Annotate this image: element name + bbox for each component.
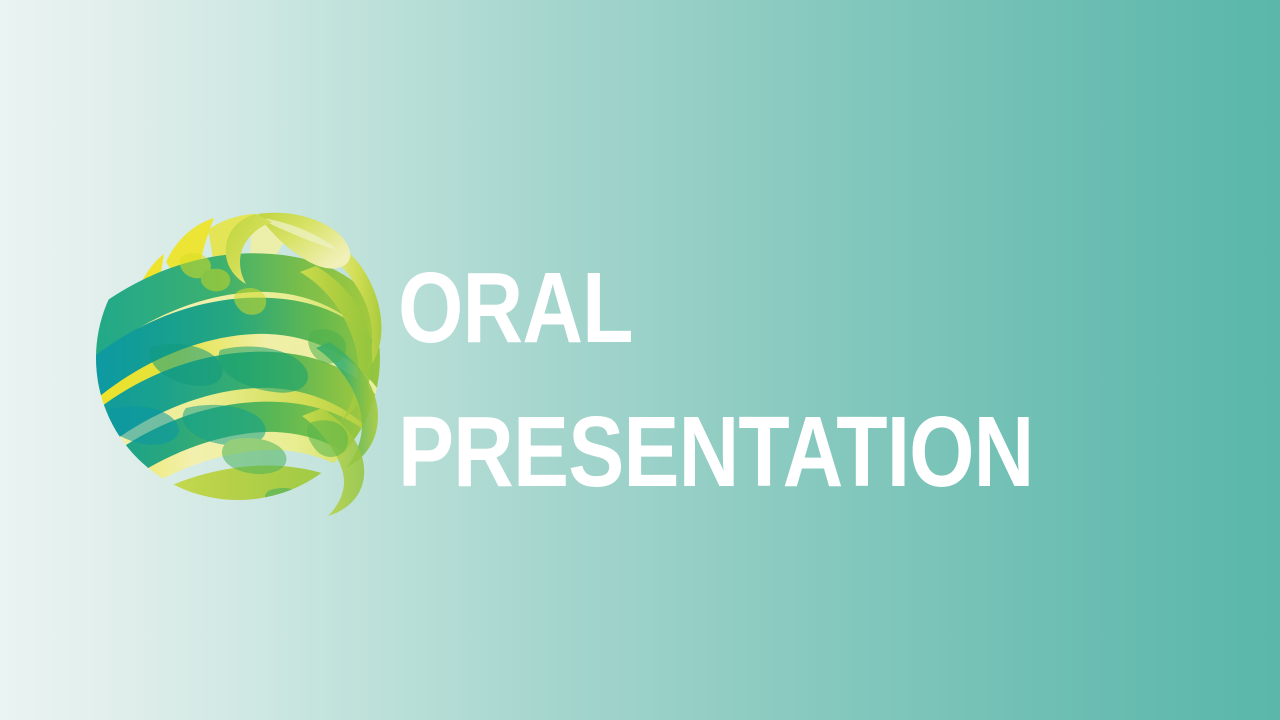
title-line-oral: ORAL [398, 236, 1070, 380]
title-line-presentation: PRESENTATION [398, 380, 1070, 524]
globe-ribbon-leaf-logo [90, 200, 386, 522]
presentation-slide: ORAL PRESENTATION [0, 0, 1280, 720]
slide-title-block: ORAL PRESENTATION [398, 236, 1198, 524]
